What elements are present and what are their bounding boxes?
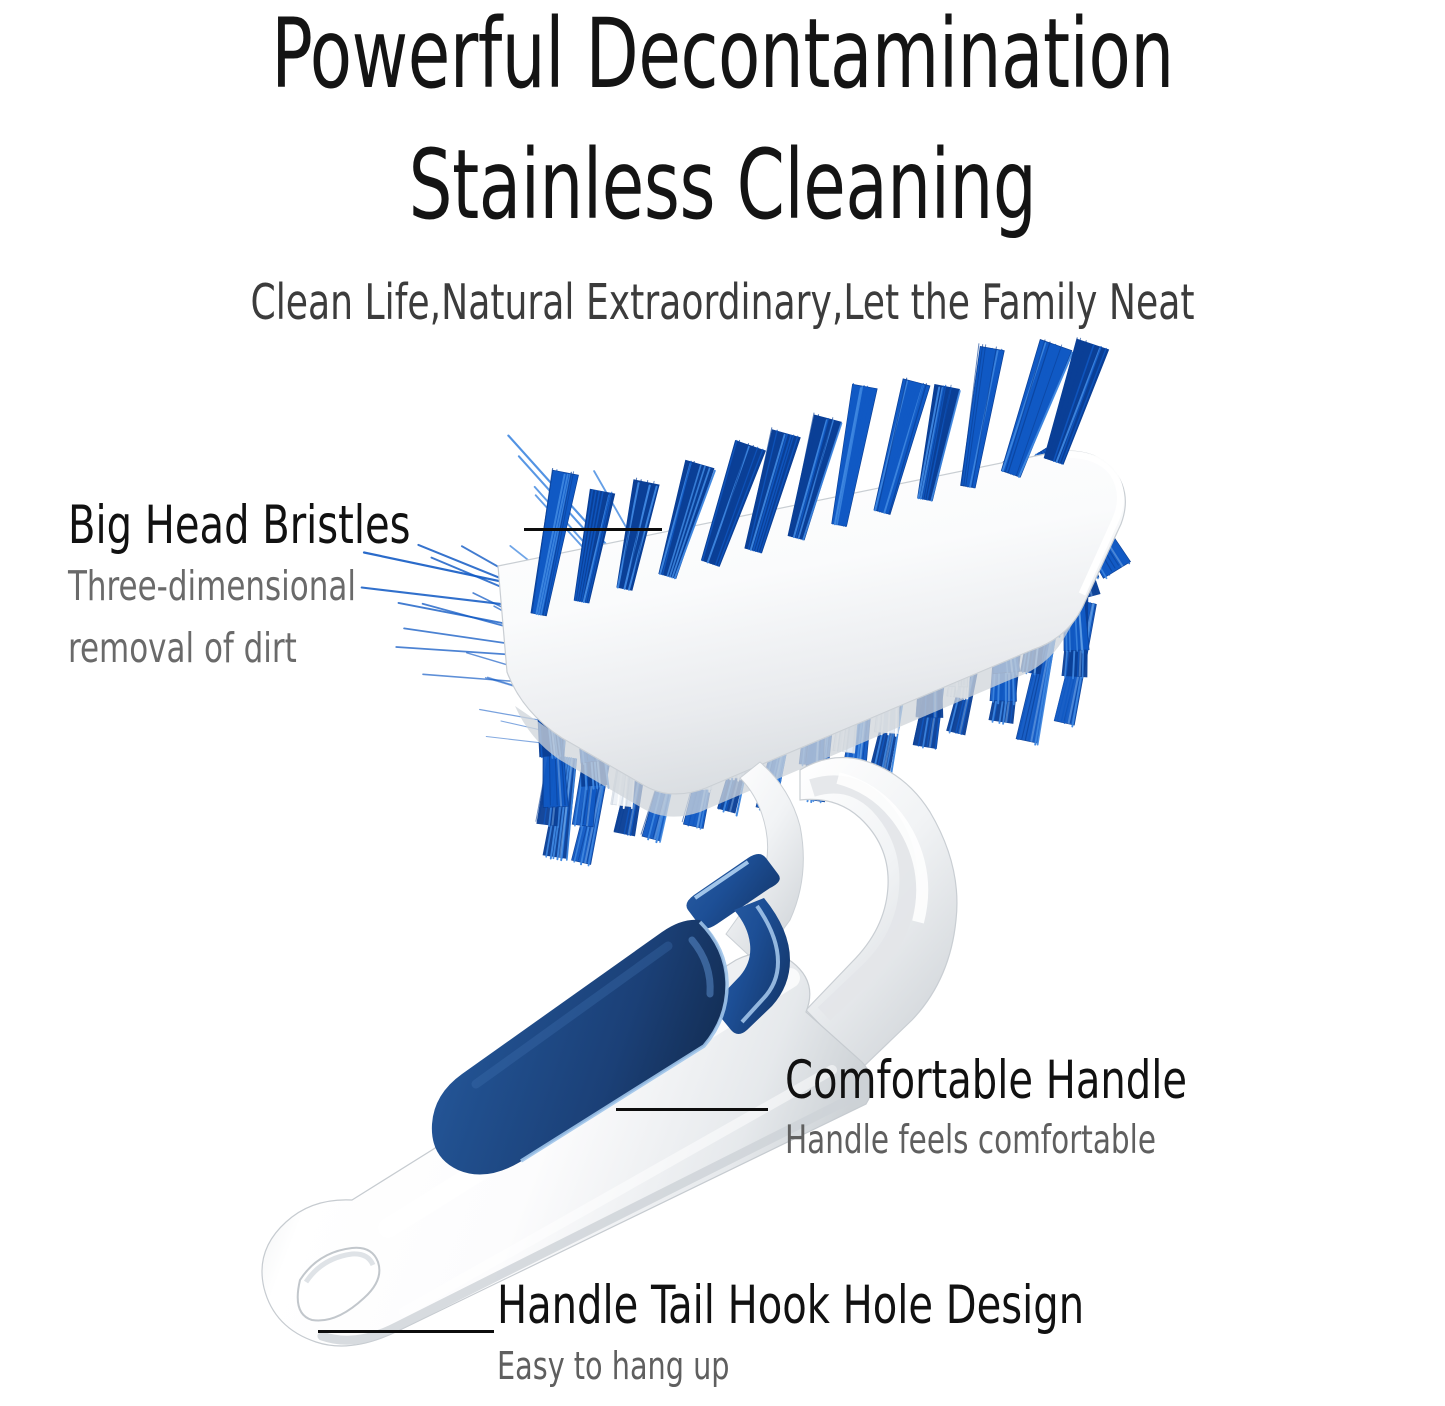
- bristle-tuft: [1021, 581, 1050, 675]
- bristle-tuft: [839, 606, 864, 706]
- bristle-tuft: [716, 540, 816, 673]
- bristle-tuft: [944, 544, 975, 662]
- callout-subtext-bristles-line2: removal of dirt: [68, 617, 411, 679]
- bristle-tuft: [614, 735, 650, 836]
- bristle-tuft: [1044, 338, 1109, 464]
- bristle-front-row: [531, 338, 1109, 616]
- bristle-tuft: [688, 681, 715, 793]
- bristle-tuft: [726, 639, 749, 736]
- bristle-tuft: [636, 563, 735, 691]
- bristle-tuft: [562, 621, 626, 725]
- bristle-tuft: [990, 592, 1017, 704]
- bristle-tuft: [617, 478, 659, 590]
- bristle-tuft: [795, 588, 825, 699]
- callout-subtext-bristles-line1: Three-dimensional: [68, 555, 411, 617]
- bristle-tuft: [611, 702, 641, 808]
- bristle-tuft: [572, 654, 604, 764]
- bristle-tuft: [1054, 509, 1100, 602]
- bristle-tuft: [947, 635, 985, 735]
- page-headline-line1: Powerful Decontamination: [145, 2, 1301, 106]
- bristle-tuft: [874, 625, 902, 736]
- bristle-tuft: [673, 588, 738, 700]
- bristle-tuft: [1062, 570, 1088, 678]
- bristle-field: [362, 436, 1131, 866]
- bristle-tuft: [721, 610, 756, 725]
- bristle-tuft: [947, 603, 976, 699]
- bristle-tuft: [543, 694, 569, 807]
- bristle-tuft: [918, 384, 960, 501]
- bristle-tuft: [756, 690, 798, 812]
- bristle-tuft: [832, 576, 867, 675]
- bristle-tuft: [683, 621, 721, 735]
- handle-blue-band: [686, 854, 790, 1034]
- bristle-tuft: [837, 505, 937, 647]
- bristle-tuft: [946, 573, 967, 690]
- callout-subtext-handle: Handle feels comfortable: [785, 1110, 1187, 1172]
- bristle-tuft: [1064, 539, 1089, 652]
- bristle-tuft: [989, 561, 1020, 674]
- callout-title-bristles: Big Head Bristles: [68, 497, 411, 555]
- bristle-tuft: [682, 712, 724, 829]
- bristle-tuft: [745, 428, 801, 553]
- bristle-tuft: [1001, 340, 1072, 478]
- bristle-tuft: [913, 646, 949, 749]
- bristle-tuft: [961, 344, 1005, 488]
- callout-comfortable-handle: Comfortable Handle Handle feels comforta…: [785, 1052, 1264, 1172]
- bristle-tuft: [1025, 551, 1050, 640]
- bristle-tuft: [1009, 489, 1069, 610]
- bristle-tuft: [641, 723, 686, 842]
- bristle-tuft: [677, 552, 766, 683]
- hook-hole: [298, 1248, 380, 1321]
- bristle-tuft: [935, 511, 997, 647]
- bristle-tuft: [797, 517, 872, 632]
- bristle-tuft: [766, 628, 794, 725]
- bristle-tuft: [686, 650, 707, 740]
- bristle-tuft: [905, 553, 951, 653]
- bristle-tuft: [727, 670, 754, 782]
- bristle-tuft: [800, 679, 837, 802]
- bristle-tuft: [874, 378, 930, 514]
- bristle-tuft: [517, 600, 600, 725]
- page-subtitle: Clean Life,Natural Extraordinary,Let the…: [130, 275, 1315, 331]
- bristle-tuft: [996, 457, 1095, 592]
- bristle-tuft: [875, 492, 963, 603]
- bristle-tuft: [758, 599, 796, 718]
- bristle-tuft: [525, 632, 589, 736]
- handle-grip-pad: [432, 920, 727, 1175]
- bristle-tuft: [832, 384, 878, 527]
- bristle-tuft: [788, 413, 841, 540]
- callout-subtext-hook: Easy to hang up: [497, 1335, 1084, 1397]
- product-infographic: Powerful Decontamination Stainless Clean…: [0, 0, 1445, 1406]
- bristle-tuft: [971, 500, 1029, 609]
- callout-hook-hole: Handle Tail Hook Hole Design Easy to han…: [497, 1277, 1196, 1397]
- leader-line-bristles: [524, 528, 662, 531]
- bristle-tuft: [749, 566, 810, 680]
- bristle-tuft: [654, 661, 689, 771]
- bristle-tuft: [531, 469, 579, 616]
- bristle-tuft: [802, 616, 836, 730]
- bristle-tuft: [599, 609, 676, 735]
- bristle-tuft: [596, 575, 700, 719]
- bristle-tuft: [536, 725, 567, 827]
- callout-big-head-bristles: Big Head Bristles Three-dimensional remo…: [68, 497, 476, 679]
- brush-neck: [726, 758, 957, 1068]
- bristle-tuft: [758, 658, 789, 758]
- callout-title-handle: Comfortable Handle: [785, 1052, 1187, 1110]
- bristle-tuft: [956, 469, 1040, 584]
- bristle-tuft: [647, 632, 675, 734]
- leader-line-handle: [616, 1108, 768, 1111]
- bristle-tuft: [784, 554, 865, 689]
- bristle-tuft: [701, 440, 765, 566]
- bristle-tuft: [580, 683, 609, 789]
- bristle-tuft: [916, 615, 943, 718]
- bristle-tuft: [556, 586, 656, 714]
- bristle-tuft: [756, 529, 839, 656]
- bristle-tuft: [638, 600, 690, 713]
- bristle-tuft: [543, 757, 577, 860]
- bristle-tuft: [916, 481, 999, 591]
- bristle-tuft: [989, 624, 1023, 724]
- leader-line-hook: [318, 1330, 494, 1333]
- bristle-tuft: [572, 746, 613, 866]
- bristle-tuft: [1018, 521, 1060, 639]
- bristle-tuft: [572, 714, 603, 827]
- bristle-tuft: [1046, 478, 1099, 587]
- bristle-tuft: [799, 647, 827, 767]
- bristle-tuft: [611, 672, 631, 765]
- bristle-tuft: [915, 584, 942, 681]
- bristle-tuft: [647, 691, 677, 784]
- page-headline-line2: Stainless Cleaning: [145, 133, 1301, 237]
- bristle-tuft: [1016, 613, 1059, 745]
- bristle-tuft: [872, 595, 893, 691]
- bristle-tuft: [710, 576, 793, 710]
- bristle-tuft: [833, 636, 864, 753]
- bristle-tuft: [1054, 602, 1096, 727]
- brush-head-base: [498, 451, 1125, 817]
- bristle-tuft: [718, 701, 761, 815]
- bristle-tuft: [860, 532, 931, 660]
- bristle-tuft: [870, 657, 910, 773]
- bristle-tuft: [896, 520, 978, 655]
- bristle-tuft: [980, 531, 1028, 640]
- bristle-tuft: [1035, 445, 1131, 578]
- bristle-tuft: [839, 669, 875, 799]
- bristle-tuft: [574, 489, 615, 603]
- bristle-tuft: [822, 542, 903, 666]
- bristle-tuft: [609, 643, 650, 762]
- callout-title-hook: Handle Tail Hook Hole Design: [497, 1277, 1084, 1335]
- bristle-tuft: [659, 460, 715, 578]
- bristle-tuft: [536, 665, 562, 758]
- bristle-tuft: [869, 565, 907, 672]
